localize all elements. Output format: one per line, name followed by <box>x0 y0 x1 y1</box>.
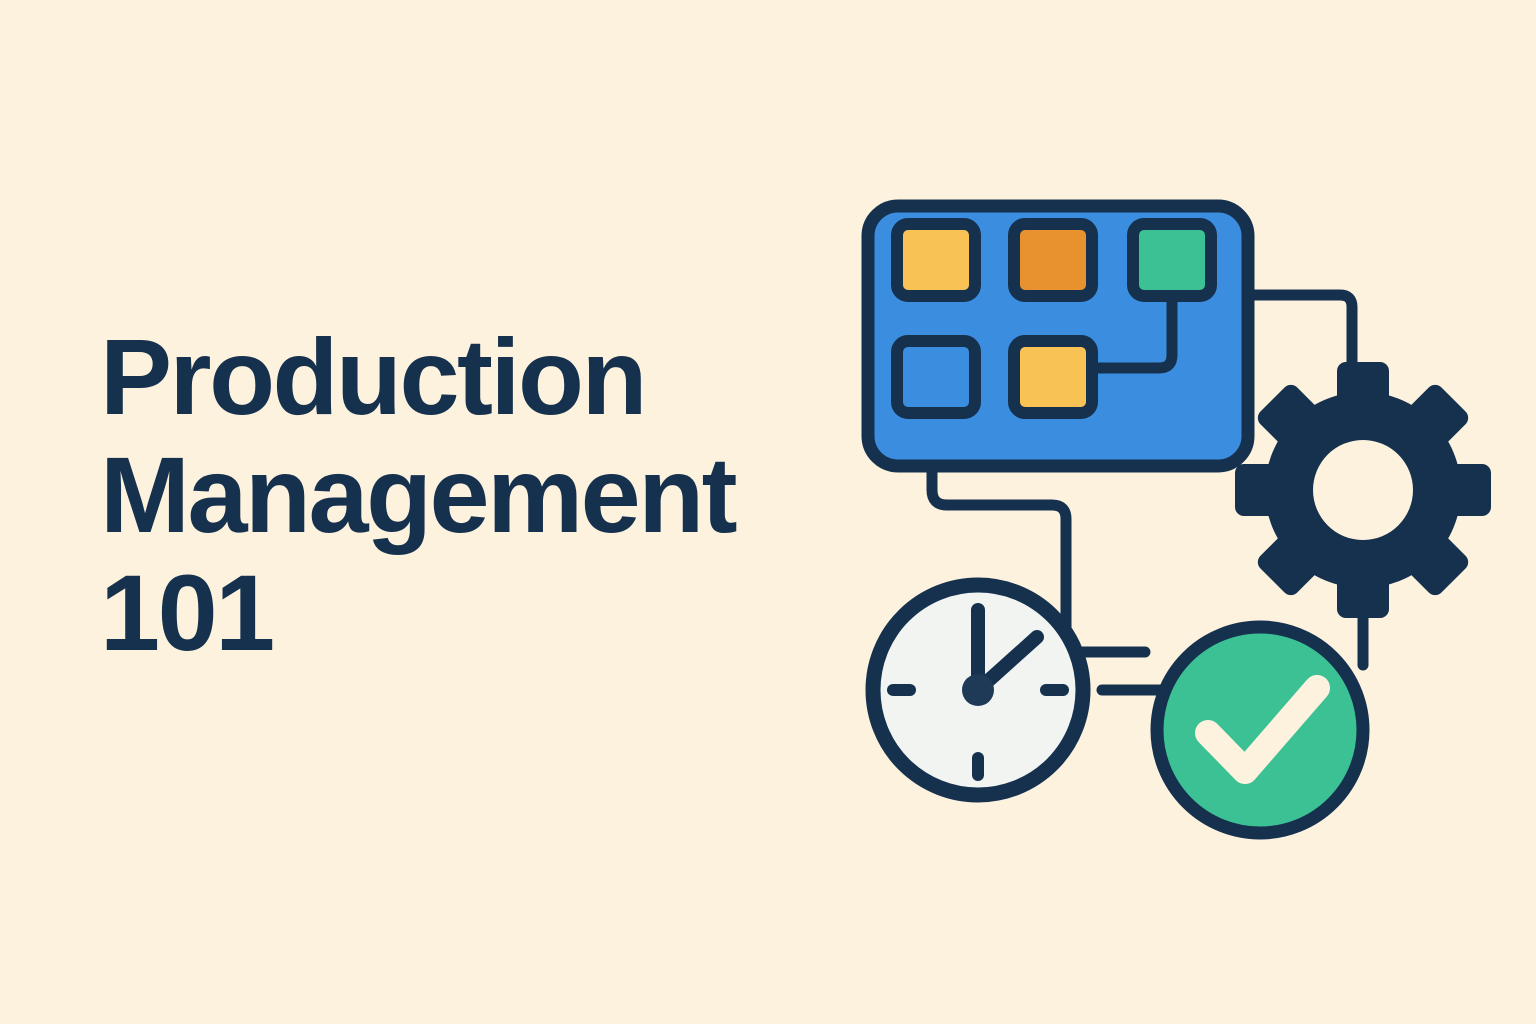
card-in-progress[interactable] <box>1014 224 1092 296</box>
connector-board-to-gear <box>1248 295 1352 365</box>
title-line-1: Production <box>100 318 900 436</box>
page-title: Production Management 101 <box>100 318 900 672</box>
kanban-board[interactable] <box>868 206 1248 466</box>
title-line-3: 101 <box>100 554 900 672</box>
gear-icon <box>1235 362 1491 618</box>
production-management-workflow-illustration <box>800 160 1500 880</box>
card-todo-1[interactable] <box>897 224 975 296</box>
clock-icon <box>873 585 1083 795</box>
poster-canvas: Production Management 101 <box>0 0 1536 1024</box>
check-circle-icon <box>1157 627 1363 833</box>
clock-center-pin <box>962 674 994 706</box>
card-done[interactable] <box>1133 224 1211 296</box>
gear-body <box>1265 392 1461 588</box>
card-todo-2[interactable] <box>1014 341 1092 413</box>
title-line-2: Management <box>100 436 900 554</box>
card-empty[interactable] <box>897 341 975 413</box>
check-circle-background <box>1157 627 1363 833</box>
